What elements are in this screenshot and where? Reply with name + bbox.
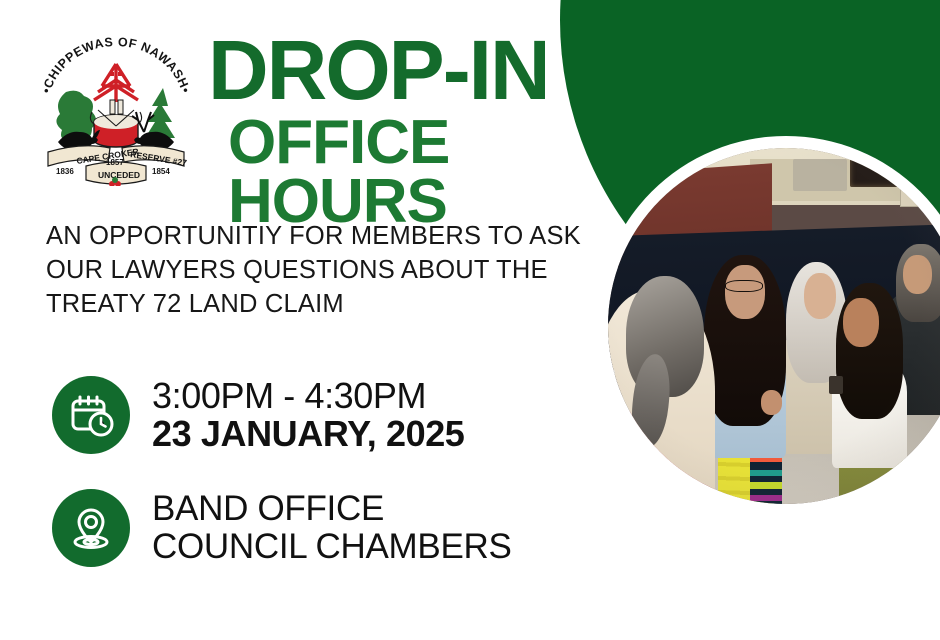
thunderbird-motif bbox=[94, 64, 138, 102]
ceremonial-drum bbox=[90, 100, 141, 147]
crest-year-center: 1857 bbox=[106, 158, 124, 167]
map-pin-icon-badge bbox=[52, 489, 130, 567]
band-crest-logo: •CHIPPEWAS OF NAWASH• bbox=[32, 34, 200, 186]
description-line-2: OUR LAWYERS QUESTIONS ABOUT THE bbox=[46, 254, 566, 288]
poster-canvas: •CHIPPEWAS OF NAWASH• bbox=[0, 0, 940, 640]
crest-year-left: 1836 bbox=[56, 167, 74, 176]
page-title: DROP-IN bbox=[208, 34, 628, 108]
location-info-row: BAND OFFICE COUNCIL CHAMBERS bbox=[52, 489, 512, 567]
event-date: 23 JANUARY, 2025 bbox=[152, 415, 464, 453]
datetime-info-row: 3:00PM - 4:30PM 23 JANUARY, 2025 bbox=[52, 376, 464, 454]
datetime-text: 3:00PM - 4:30PM 23 JANUARY, 2025 bbox=[152, 377, 464, 453]
crest-year-right: 1854 bbox=[152, 167, 170, 176]
location-text: BAND OFFICE COUNCIL CHAMBERS bbox=[152, 490, 512, 567]
community-photo bbox=[608, 148, 940, 504]
location-line-2: COUNCIL CHAMBERS bbox=[152, 528, 512, 567]
calendar-clock-icon bbox=[67, 391, 115, 439]
description-text: AN OPPORTUNITIY FOR MEMBERS TO ASK OUR L… bbox=[46, 220, 566, 322]
description-line-3: TREATY 72 LAND CLAIM bbox=[46, 288, 566, 322]
description-line-1: AN OPPORTUNITIY FOR MEMBERS TO ASK bbox=[46, 220, 566, 254]
map-pin-icon bbox=[67, 504, 115, 552]
calendar-clock-icon-badge bbox=[52, 376, 130, 454]
event-time: 3:00PM - 4:30PM bbox=[152, 377, 464, 415]
page-subtitle: OFFICE HOURS bbox=[228, 114, 628, 232]
crest-banner-center: UNCEDED bbox=[98, 170, 140, 180]
location-line-1: BAND OFFICE bbox=[152, 490, 512, 529]
title-block: DROP-IN OFFICE HOURS bbox=[208, 34, 628, 232]
